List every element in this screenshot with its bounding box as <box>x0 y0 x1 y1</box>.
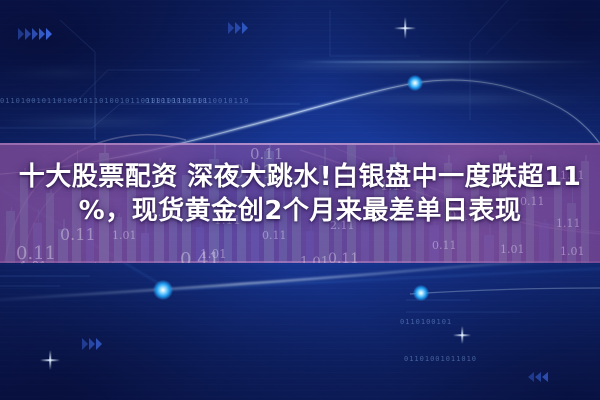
chevron-icon <box>32 28 38 40</box>
chevron-icon <box>542 372 548 382</box>
chevron-icon <box>18 28 24 40</box>
chevron-cluster-bottom-right-icon <box>528 372 548 382</box>
glow-node-curve-peak <box>407 75 423 91</box>
binary-digit-strip: 01101001011010 <box>404 355 477 363</box>
sparkle-bottom-left-icon <box>40 350 60 370</box>
glow-node-left-streak <box>153 280 173 300</box>
headline-line-1: 十大股票配资 深夜大跳水!白银盘中一度跌超11 <box>8 160 592 194</box>
chevron-icon <box>535 372 541 382</box>
chevron-icon <box>96 338 102 350</box>
glow-node-bottom-mid <box>413 285 429 301</box>
chevron-cluster-top-left-icon <box>18 28 52 40</box>
headline-line-2: %，现货黄金创2个月来最差单日表现 <box>8 194 592 228</box>
chevron-cluster-bottom-mid-icon <box>82 338 102 350</box>
chevron-icon <box>89 338 95 350</box>
chevron-icon <box>25 28 31 40</box>
chevron-icon <box>46 28 52 40</box>
chevron-icon <box>228 22 234 34</box>
sparkle-top-right-icon <box>394 17 416 39</box>
headline-block: 十大股票配资 深夜大跳水!白银盘中一度跌超11 %，现货黄金创2个月来最差单日表… <box>0 160 600 228</box>
binary-digit-strip: 0110100101 <box>400 318 452 326</box>
chevron-cluster-top-mid-icon <box>228 22 248 34</box>
chevron-icon <box>235 22 241 34</box>
chevron-icon <box>39 28 45 40</box>
chevron-icon <box>528 372 534 382</box>
sparkle-bottom-mid-icon <box>453 326 471 344</box>
banner-stage: 0.110.210.110.111.601.111.011.011.010.41… <box>0 0 600 400</box>
chevron-icon <box>242 22 248 34</box>
chevron-icon <box>82 338 88 350</box>
binary-digit-strip: 0110100101101001011010010110100101101001 <box>0 97 209 105</box>
